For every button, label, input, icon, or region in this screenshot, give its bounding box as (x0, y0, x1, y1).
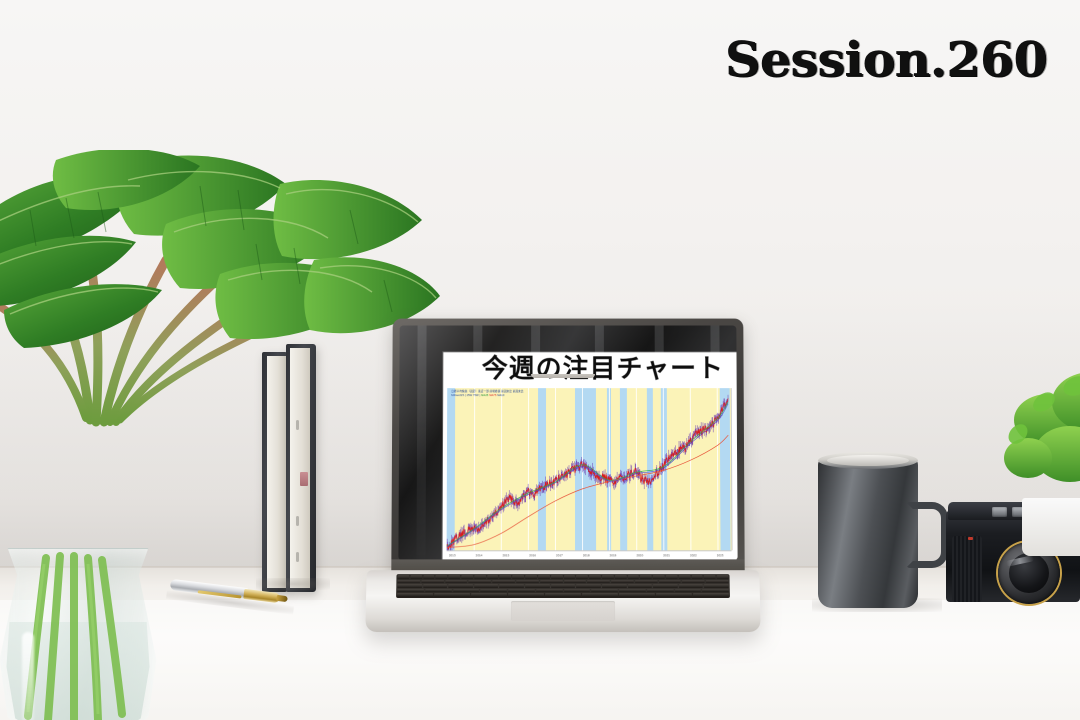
chart-x-tick: 2016 (529, 553, 536, 557)
chart-y-tick: 1400.0 (732, 509, 737, 512)
glass-vase (0, 548, 158, 720)
keyboard-key[interactable] (678, 575, 690, 579)
chart-y-tick: 1200.0 (732, 516, 737, 519)
keyboard-key[interactable] (434, 593, 470, 597)
keyboard-key[interactable] (704, 575, 716, 579)
keyboard-row[interactable] (397, 584, 729, 588)
chart-y-tick: 3000.0 (732, 449, 738, 452)
chart-y-tick: 700.0 (733, 546, 738, 549)
keyboard-row[interactable] (397, 575, 728, 579)
keyboard-key[interactable] (397, 580, 420, 584)
keyboard-key[interactable] (500, 584, 525, 588)
chart-legend-ma25: MA25 (481, 394, 488, 397)
chart-y-tick: 2000.0 (732, 486, 737, 489)
chart-x-tick: 2020 (636, 553, 643, 557)
chart-y-tick: 3400 (732, 426, 738, 429)
chart-y-tick: 2200.0 (732, 479, 737, 482)
keyboard-key[interactable] (656, 593, 692, 597)
keyboard-key[interactable] (602, 584, 627, 588)
keyboard-key[interactable] (423, 584, 448, 588)
keyboard-key[interactable] (635, 580, 658, 584)
keyboard-key[interactable] (653, 584, 678, 588)
session-title: Session.260 (725, 36, 1047, 84)
keyboard-key[interactable] (704, 584, 729, 588)
keyboard-row[interactable] (397, 593, 729, 597)
keyboard-key[interactable] (717, 575, 729, 579)
keyboard-key[interactable] (627, 584, 652, 588)
keyboard-key[interactable] (653, 575, 665, 579)
laptop: 今週の注目チャート (366, 318, 760, 638)
keyboard-key[interactable] (682, 580, 705, 584)
mug-handle (906, 502, 948, 568)
keyboard-key[interactable] (563, 580, 586, 584)
keyboard-key[interactable] (615, 575, 627, 579)
chart-y-tick: 1000.0 (732, 524, 737, 527)
keyboard-row[interactable] (397, 580, 728, 584)
keyboard-key[interactable] (397, 575, 409, 579)
laptop-base (365, 570, 760, 632)
chart-y-tick: 2400.0 (732, 471, 737, 474)
plant-foliage (988, 358, 1080, 508)
chart-y-tick: 3000 (732, 441, 738, 444)
vase-highlight (22, 632, 34, 720)
keyboard-key[interactable] (587, 580, 610, 584)
keyboard-key[interactable] (410, 575, 422, 579)
keyboard-key[interactable] (469, 580, 492, 584)
chart-y-tick: 2600.0 (732, 464, 738, 467)
screen-title: 今週の注目チャート (443, 352, 737, 386)
chart-y-tick: 900.0 (732, 531, 737, 534)
chart-header-text: 日経平均株価（週足）東証一部 前場終値 前週末比 前週末比 NIKkei225 … (451, 390, 523, 397)
keyboard-key[interactable] (474, 575, 486, 579)
chart-y-tick: JPY (732, 389, 738, 392)
notebook-back-pages (267, 356, 286, 588)
keyboard-key[interactable] (576, 575, 588, 579)
keyboard-key[interactable] (423, 575, 435, 579)
keyboard-key[interactable] (487, 575, 499, 579)
keyboard-key[interactable] (591, 589, 618, 593)
chart-y-tick: 3600 (732, 419, 738, 422)
keyboard-key[interactable] (471, 593, 507, 597)
chart-y-tick: 2800.0 (732, 456, 738, 459)
chart-x-tick: 2019 (610, 553, 617, 557)
chart-y-tick: 1600.0 (732, 501, 737, 504)
chart-x-tick: 2013 (449, 553, 456, 557)
chart-legend-ma13: MA13 (497, 394, 504, 397)
chart-y-axis: JPY40004000380036003400320030003000.0280… (731, 388, 738, 550)
laptop-base-notch (531, 374, 595, 378)
chart-line-ma75 (447, 435, 729, 547)
keyboard-key[interactable] (611, 580, 634, 584)
keyboard-key[interactable] (576, 584, 601, 588)
notebook-elastic-band (300, 472, 308, 486)
keyboard-key[interactable] (397, 589, 424, 593)
pen-tip (276, 594, 288, 601)
chart-plot-area: 日経平均株価（週足）東証一部 前場終値 前週末比 前週末比 NIKkei225 … (447, 388, 732, 550)
keyboard-key[interactable] (492, 580, 515, 584)
chart-y-tick: 4000 (732, 397, 738, 400)
laptop-keyboard[interactable] (396, 574, 730, 598)
scene-canvas: Session.260 (0, 0, 1080, 720)
keyboard-key[interactable] (589, 575, 601, 579)
chart-y-tick: 3200 (732, 434, 738, 437)
keyboard-row[interactable] (397, 589, 729, 593)
keyboard-key[interactable] (480, 589, 507, 593)
keyboard-key[interactable] (449, 575, 461, 579)
mug (818, 450, 948, 610)
chart-legend-source: NIKkei225 ( 25W 75W ) (451, 394, 480, 397)
chart-y-tick: 3800 (732, 411, 738, 414)
notebooks (262, 340, 342, 592)
keyboard-key[interactable] (397, 584, 422, 588)
chart-y-tick: 800.0 (732, 539, 737, 542)
chart-legend-ma75: MA75 (489, 394, 496, 397)
keyboard-key[interactable] (640, 575, 652, 579)
keyboard-key[interactable] (474, 584, 499, 588)
laptop-lid: 今週の注目チャート (391, 319, 744, 577)
chart-x-tick: 2017 (556, 553, 563, 557)
keyboard-key[interactable] (397, 593, 433, 597)
mug-body (818, 458, 918, 608)
keyboard-key[interactable] (563, 589, 590, 593)
keyboard-key[interactable] (693, 593, 729, 597)
keyboard-key[interactable] (445, 580, 468, 584)
chart-x-tick: 2022 (690, 553, 697, 557)
notebook-back (262, 352, 288, 592)
chart-x-tick: 2014 (476, 553, 483, 557)
keyboard-key[interactable] (691, 575, 703, 579)
potted-plant (988, 358, 1080, 548)
chart-x-tick: 2021 (663, 553, 670, 557)
keyboard-key[interactable] (421, 580, 444, 584)
camera-grip (952, 536, 982, 602)
keyboard-key[interactable] (619, 593, 655, 597)
chart-x-tick: 2023 (717, 553, 724, 557)
chart-x-tick: 2018 (583, 553, 590, 557)
keyboard-key[interactable] (453, 589, 480, 593)
mug-interior (827, 455, 909, 466)
keyboard-key[interactable] (425, 589, 452, 593)
chart-y-tick: 1800.0 (732, 494, 737, 497)
keyboard-key[interactable] (461, 575, 473, 579)
keyboard-key[interactable] (706, 580, 729, 584)
keyboard-key[interactable] (679, 584, 704, 588)
chart-series-canvas (447, 388, 732, 550)
notebook-front-pages (290, 348, 310, 588)
keyboard-key[interactable] (516, 580, 539, 584)
stock-chart[interactable]: 日経平均株価（週足）東証一部 前場終値 前週末比 前週末比 NIKkei225 … (445, 386, 738, 560)
keyboard-key[interactable] (602, 575, 614, 579)
keyboard-key[interactable] (536, 589, 563, 593)
keyboard-key[interactable] (551, 584, 576, 588)
camera-self-timer-led (968, 537, 973, 540)
laptop-bezel: 今週の注目チャート (398, 326, 737, 561)
keyboard-key[interactable] (525, 575, 537, 579)
keyboard-key[interactable] (508, 589, 535, 593)
keyboard-key[interactable] (563, 575, 575, 579)
keyboard-key[interactable] (525, 584, 550, 588)
keyboard-key[interactable] (448, 584, 473, 588)
keyboard-key[interactable] (540, 580, 563, 584)
notebooks-shadow (256, 578, 330, 590)
notebook-front (286, 344, 316, 592)
chart-candle-wicks (447, 395, 729, 550)
keyboard-key[interactable] (551, 575, 563, 579)
chart-y-tick: 4000 (732, 404, 738, 407)
keyboard-key[interactable] (500, 575, 512, 579)
laptop-screen[interactable]: 今週の注目チャート (443, 352, 738, 560)
keyboard-key[interactable] (582, 593, 618, 597)
keyboard-key[interactable] (508, 593, 544, 597)
keyboard-key[interactable] (658, 580, 681, 584)
chart-price-line (447, 398, 729, 549)
keyboard-key[interactable] (674, 589, 701, 593)
keyboard-key[interactable] (666, 575, 678, 579)
keyboard-key[interactable] (545, 593, 581, 597)
keyboard-key[interactable] (436, 575, 448, 579)
chart-x-tick: 2015 (502, 553, 509, 557)
keyboard-key[interactable] (512, 575, 524, 579)
keyboard-key[interactable] (627, 575, 639, 579)
keyboard-key[interactable] (702, 589, 729, 593)
keyboard-key[interactable] (647, 589, 674, 593)
keyboard-key[interactable] (538, 575, 550, 579)
keyboard-key[interactable] (619, 589, 646, 593)
laptop-trackpad[interactable] (511, 601, 615, 621)
